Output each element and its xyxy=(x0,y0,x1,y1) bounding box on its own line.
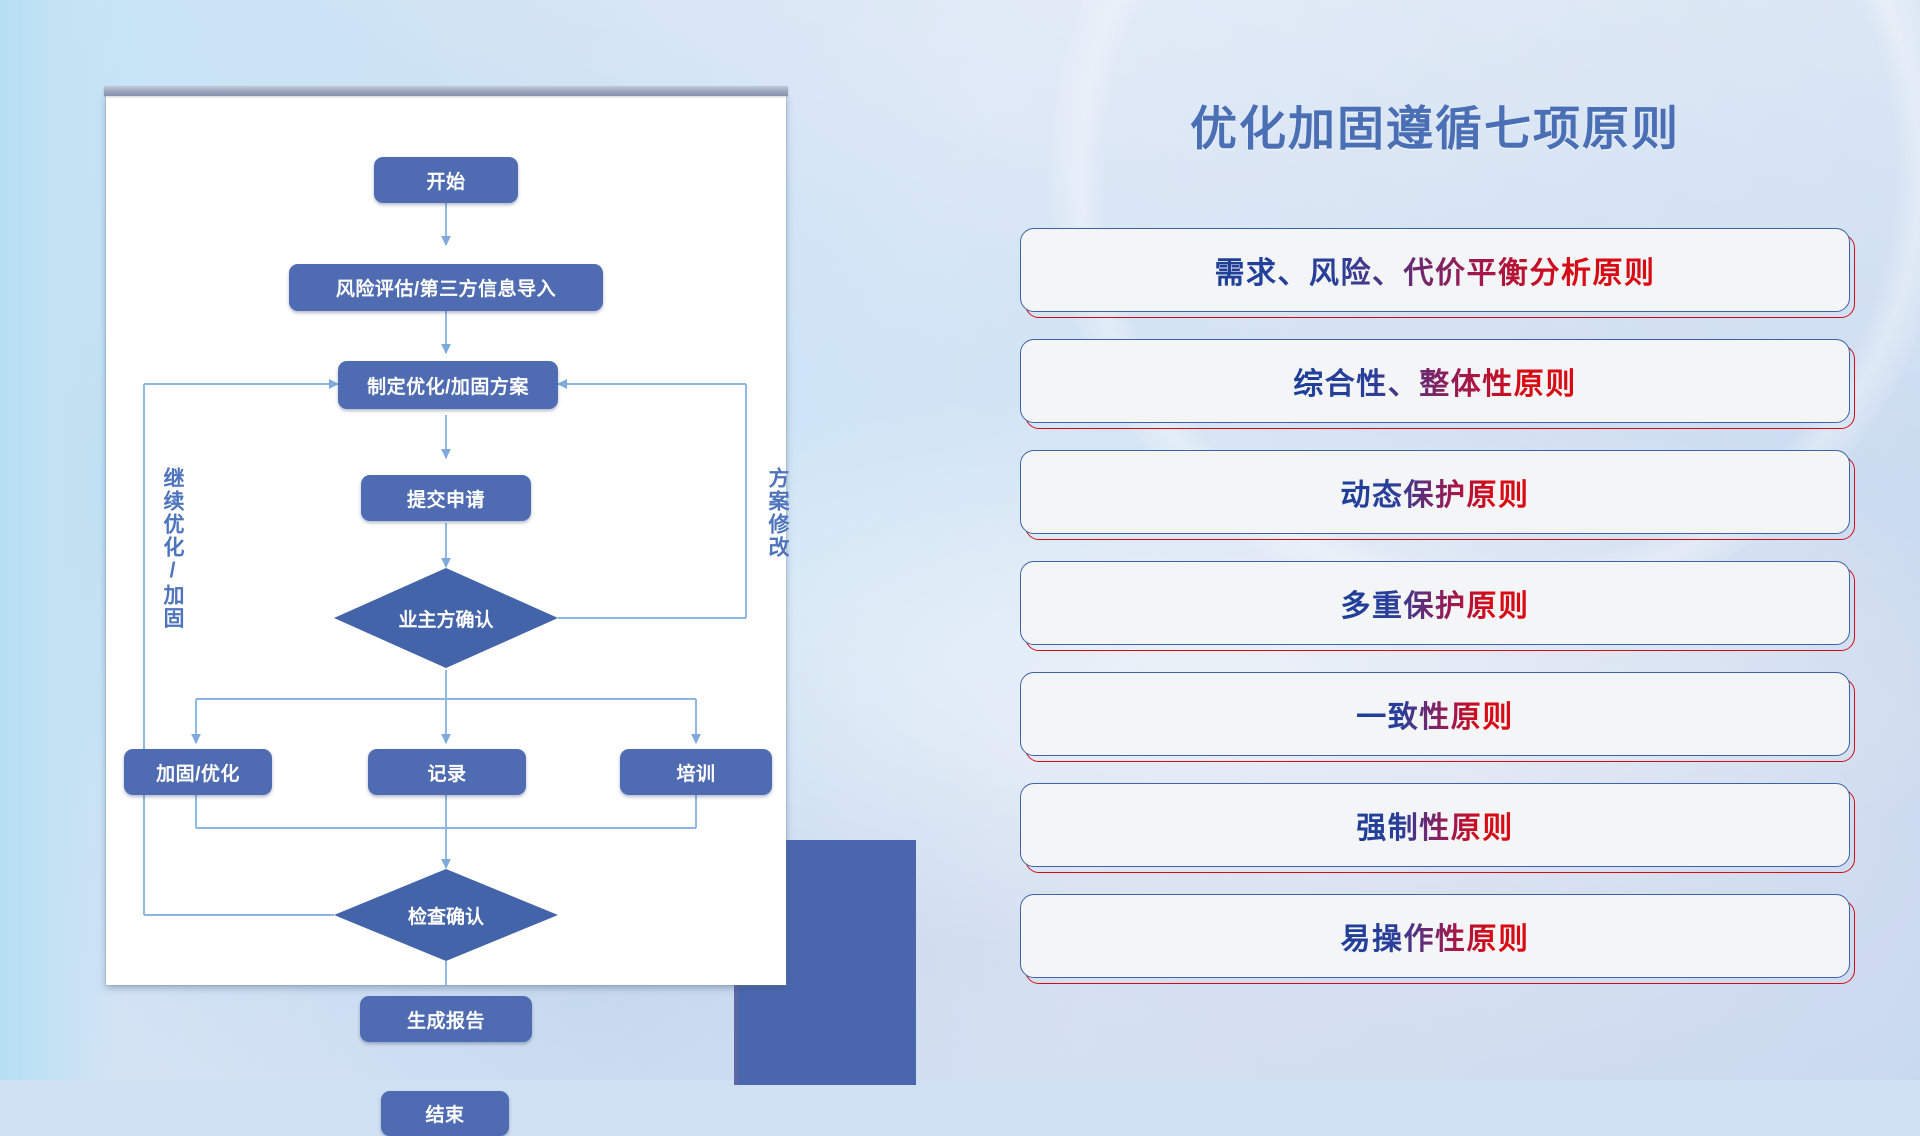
flow-node-training[interactable]: 培训 xyxy=(620,749,772,795)
flow-node-submit[interactable]: 提交申请 xyxy=(361,475,531,521)
principles-panel: 优化加固遵循七项原则 需求、风险、代价平衡分析原则 综合性、整体性原则 动态保护… xyxy=(1020,90,1850,1040)
principle-label: 一致性原则 xyxy=(1356,692,1514,736)
flow-node-reinforce-label: 加固/优化 xyxy=(156,759,240,786)
flow-node-reinforce[interactable]: 加固/优化 xyxy=(124,749,272,795)
flow-node-report-label: 生成报告 xyxy=(407,1006,485,1033)
flow-node-training-label: 培训 xyxy=(676,759,715,786)
principle-label: 强制性原则 xyxy=(1356,803,1514,847)
flow-node-record[interactable]: 记录 xyxy=(368,749,526,795)
flow-node-plan-label: 制定优化/加固方案 xyxy=(367,372,529,399)
principle-box[interactable]: 多重保护原则 xyxy=(1020,561,1850,645)
flow-node-start[interactable]: 开始 xyxy=(374,157,518,203)
principle-label: 易操作性原则 xyxy=(1341,914,1530,958)
principle-box[interactable]: 强制性原则 xyxy=(1020,783,1850,867)
principle-box[interactable]: 需求、风险、代价平衡分析原则 xyxy=(1020,228,1850,312)
principles-list: 需求、风险、代价平衡分析原则 综合性、整体性原则 动态保护原则 多重保护原则 一 xyxy=(1020,228,1850,1005)
principle-label: 动态保护原则 xyxy=(1341,470,1530,514)
principle-item[interactable]: 需求、风险、代价平衡分析原则 xyxy=(1020,228,1850,312)
flow-edge-label-continue-optimize: 继续优化/加固 xyxy=(161,467,183,630)
principle-label: 多重保护原则 xyxy=(1341,581,1530,625)
principle-box[interactable]: 综合性、整体性原则 xyxy=(1020,339,1850,423)
principle-box[interactable]: 动态保护原则 xyxy=(1020,450,1850,534)
flow-decision-check-confirm-label: 检查确认 xyxy=(408,902,484,929)
flow-node-risk-assessment-label: 风险评估/第三方信息导入 xyxy=(336,274,556,301)
flow-node-end-label: 结束 xyxy=(425,1100,464,1127)
flow-node-start-label: 开始 xyxy=(426,167,465,194)
flowchart-panel: 开始 风险评估/第三方信息导入 制定优化/加固方案 提交申请 业主方确认 加固/… xyxy=(106,95,786,990)
flowchart-canvas: 开始 风险评估/第三方信息导入 制定优化/加固方案 提交申请 业主方确认 加固/… xyxy=(106,95,786,985)
flow-node-report[interactable]: 生成报告 xyxy=(360,996,532,1042)
principle-item[interactable]: 易操作性原则 xyxy=(1020,894,1850,978)
flow-decision-owner-confirm-label: 业主方确认 xyxy=(398,605,493,632)
background-left-strip xyxy=(0,0,120,1080)
principle-item[interactable]: 一致性原则 xyxy=(1020,672,1850,756)
flow-node-plan[interactable]: 制定优化/加固方案 xyxy=(338,361,558,409)
flow-edge-label-plan-revision: 方案修改 xyxy=(766,467,788,559)
flowchart-card: 开始 风险评估/第三方信息导入 制定优化/加固方案 提交申请 业主方确认 加固/… xyxy=(106,95,786,985)
flow-node-end[interactable]: 结束 xyxy=(381,1091,509,1136)
principle-item[interactable]: 多重保护原则 xyxy=(1020,561,1850,645)
principles-title: 优化加固遵循七项原则 xyxy=(1020,90,1850,159)
flow-node-submit-label: 提交申请 xyxy=(407,485,485,512)
flow-connectors xyxy=(106,95,786,985)
principle-label: 需求、风险、代价平衡分析原则 xyxy=(1215,248,1656,292)
principle-box[interactable]: 一致性原则 xyxy=(1020,672,1850,756)
principle-label: 综合性、整体性原则 xyxy=(1293,359,1577,403)
principle-item[interactable]: 综合性、整体性原则 xyxy=(1020,339,1850,423)
principle-item[interactable]: 动态保护原则 xyxy=(1020,450,1850,534)
flow-node-risk-assessment[interactable]: 风险评估/第三方信息导入 xyxy=(289,264,603,311)
flow-node-record-label: 记录 xyxy=(427,759,466,786)
principle-item[interactable]: 强制性原则 xyxy=(1020,783,1850,867)
principle-box[interactable]: 易操作性原则 xyxy=(1020,894,1850,978)
